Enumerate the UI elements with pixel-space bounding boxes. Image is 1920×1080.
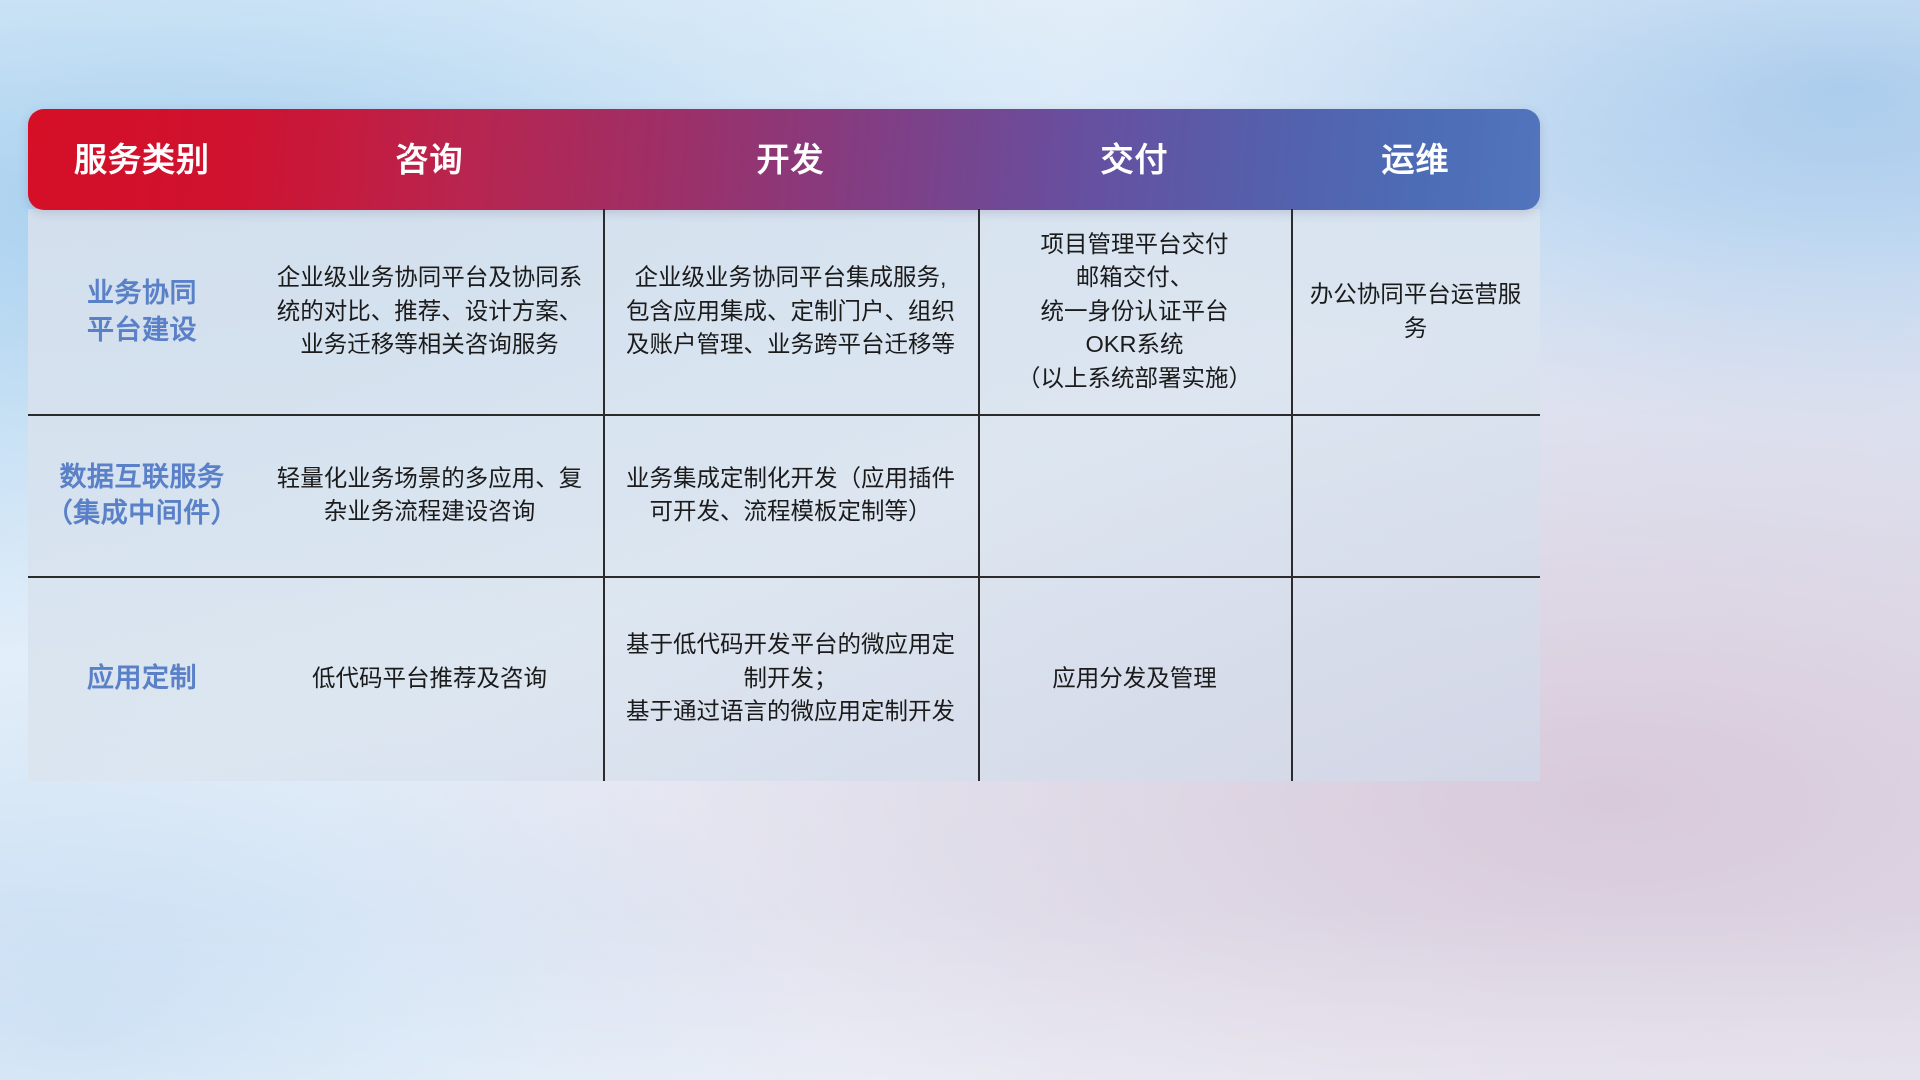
cell-consulting: 企业级业务协同平台及协同系 统的对比、推荐、设计方案、 业务迁移等相关咨询服务 bbox=[256, 209, 603, 414]
cell-text: 应用分发及管理 bbox=[1052, 662, 1217, 695]
column-header-service-category: 服务类别 bbox=[28, 143, 256, 176]
column-header-operations: 运维 bbox=[1291, 143, 1540, 176]
column-header-consulting: 咨询 bbox=[256, 143, 603, 176]
cell-text: 轻量化业务场景的多应用、复 杂业务流程建设咨询 bbox=[277, 462, 583, 529]
cell-delivery bbox=[978, 414, 1291, 576]
cell-development: 基于低代码开发平台的微应用定 制开发； 基于通过语言的微应用定制开发 bbox=[603, 576, 978, 781]
cell-operations: 办公协同平台运营服务 bbox=[1291, 209, 1540, 414]
cell-category: 应用定制 bbox=[28, 576, 256, 781]
cell-text: 办公协同平台运营服务 bbox=[1301, 278, 1530, 345]
cell-delivery: 应用分发及管理 bbox=[978, 576, 1291, 781]
cell-operations bbox=[1291, 414, 1540, 576]
cell-consulting: 轻量化业务场景的多应用、复 杂业务流程建设咨询 bbox=[256, 414, 603, 576]
cell-consulting: 低代码平台推荐及咨询 bbox=[256, 576, 603, 781]
cell-text: 项目管理平台交付 邮箱交付、 统一身份认证平台 OKR系统 （以上系统部署实施） bbox=[1017, 228, 1252, 395]
category-label: 业务协同 平台建设 bbox=[87, 275, 197, 348]
cell-text: 低代码平台推荐及咨询 bbox=[312, 662, 547, 695]
category-label: 数据互联服务 （集成中间件） bbox=[46, 459, 239, 532]
service-matrix-table: 服务类别 咨询 开发 交付 运维 业务协同 平台建设 企业级业务协同平台及协同系… bbox=[28, 109, 1540, 781]
cell-delivery: 项目管理平台交付 邮箱交付、 统一身份认证平台 OKR系统 （以上系统部署实施） bbox=[978, 209, 1291, 414]
table-body: 业务协同 平台建设 企业级业务协同平台及协同系 统的对比、推荐、设计方案、 业务… bbox=[28, 209, 1540, 781]
cell-development: 业务集成定制化开发（应用插件 可开发、流程模板定制等） bbox=[603, 414, 978, 576]
cell-text: 业务集成定制化开发（应用插件 可开发、流程模板定制等） bbox=[626, 462, 955, 529]
cell-development: 企业级业务协同平台集成服务, 包含应用集成、定制门户、组织 及账户管理、业务跨平… bbox=[603, 209, 978, 414]
cell-text: 企业级业务协同平台及协同系 统的对比、推荐、设计方案、 业务迁移等相关咨询服务 bbox=[277, 261, 583, 361]
cell-text: 企业级业务协同平台集成服务, 包含应用集成、定制门户、组织 及账户管理、业务跨平… bbox=[626, 261, 955, 361]
column-header-development: 开发 bbox=[603, 143, 978, 176]
cell-category: 业务协同 平台建设 bbox=[28, 209, 256, 414]
table-row: 数据互联服务 （集成中间件） 轻量化业务场景的多应用、复 杂业务流程建设咨询 业… bbox=[28, 414, 1540, 576]
table-row: 业务协同 平台建设 企业级业务协同平台及协同系 统的对比、推荐、设计方案、 业务… bbox=[28, 209, 1540, 414]
cell-category: 数据互联服务 （集成中间件） bbox=[28, 414, 256, 576]
cell-text: 基于低代码开发平台的微应用定 制开发； 基于通过语言的微应用定制开发 bbox=[626, 628, 955, 728]
cell-operations bbox=[1291, 576, 1540, 781]
table-header-row: 服务类别 咨询 开发 交付 运维 bbox=[28, 109, 1540, 210]
table-row: 应用定制 低代码平台推荐及咨询 基于低代码开发平台的微应用定 制开发； 基于通过… bbox=[28, 576, 1540, 781]
column-header-delivery: 交付 bbox=[978, 143, 1291, 176]
category-label: 应用定制 bbox=[87, 660, 197, 696]
